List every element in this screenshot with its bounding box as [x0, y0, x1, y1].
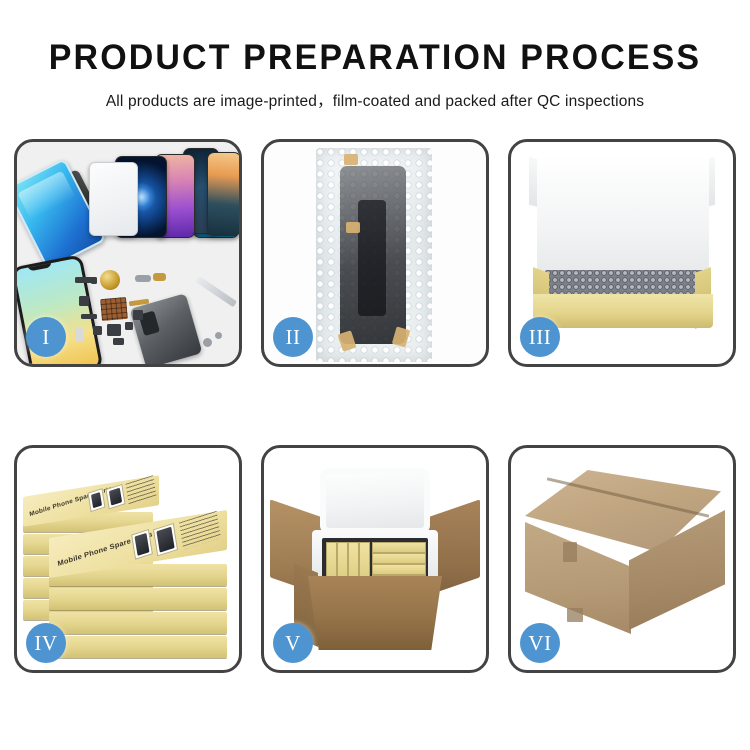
foam-cooler-lid-image: [320, 468, 430, 534]
inner-yellow-box-6: [372, 553, 426, 564]
process-step-panel-2[interactable]: II: [261, 139, 489, 367]
inner-yellow-box-5: [372, 542, 426, 553]
component-bar-2: [135, 275, 151, 282]
chip-array-image: [100, 297, 128, 321]
step-badge-1: I: [26, 317, 66, 357]
front-glass-panel-image: [89, 162, 138, 236]
page-subtitle: All products are image-printed，film-coat…: [0, 89, 750, 111]
wrapped-part-image: [340, 166, 406, 344]
tape-piece-1: [344, 154, 358, 165]
component-chip-1: [79, 296, 89, 306]
box-label-window-rear-1: [88, 488, 106, 512]
stacked-box-r4: [49, 636, 227, 658]
carton-front-face: [308, 576, 442, 650]
stacked-box-r3: [49, 612, 227, 634]
carton-tape-lower: [567, 608, 583, 622]
box-label-window-front-1: [131, 529, 153, 560]
inner-yellow-box-7: [372, 564, 426, 575]
carton-tape-upper: [563, 542, 577, 562]
gold-component-image: [100, 270, 120, 290]
box-yellow-front-image: [533, 294, 713, 328]
component-gold-1: [153, 273, 166, 281]
process-step-panel-5[interactable]: V: [261, 445, 489, 673]
component-white-1: [75, 328, 83, 342]
page-title: PRODUCT PREPARATION PROCESS: [11, 40, 739, 77]
component-flex-1: [81, 314, 97, 319]
step-badge-5: V: [273, 623, 313, 663]
component-chip-6: [133, 310, 143, 320]
box-label-window-front-2: [153, 523, 178, 557]
process-step-panel-6[interactable]: VI: [508, 445, 736, 673]
component-chip-2: [93, 326, 102, 335]
phone-orange-screen-image: [207, 152, 239, 236]
step-badge-4: IV: [26, 623, 66, 663]
component-screw-2: [215, 332, 222, 339]
box-label-lines-rear: [125, 475, 156, 505]
step-badge-2: II: [273, 317, 313, 357]
tape-piece-2: [346, 222, 360, 233]
box-label-lines-front: [179, 511, 221, 550]
component-screw-1: [203, 338, 212, 347]
process-step-panel-3[interactable]: III: [508, 139, 736, 367]
process-step-panel-4[interactable]: Mobile Phone Spare Parts Mobile Phone Sp…: [14, 445, 242, 673]
step-badge-6: VI: [520, 623, 560, 663]
page-header: PRODUCT PREPARATION PROCESS All products…: [0, 0, 750, 111]
component-chip-5: [113, 338, 124, 345]
tweezers-image: [195, 276, 237, 308]
bubble-wrap-bag-image: [316, 148, 432, 362]
component-chip-4: [125, 322, 133, 330]
process-step-panel-1[interactable]: I: [14, 139, 242, 367]
stacked-box-r2: [49, 588, 227, 610]
box-white-lid-image: [537, 156, 709, 274]
step-badge-3: III: [520, 317, 560, 357]
component-chip-3: [107, 324, 121, 336]
process-step-grid: I II III: [14, 139, 736, 673]
component-chip-7: [91, 278, 97, 284]
box-label-window-rear-2: [105, 484, 125, 510]
